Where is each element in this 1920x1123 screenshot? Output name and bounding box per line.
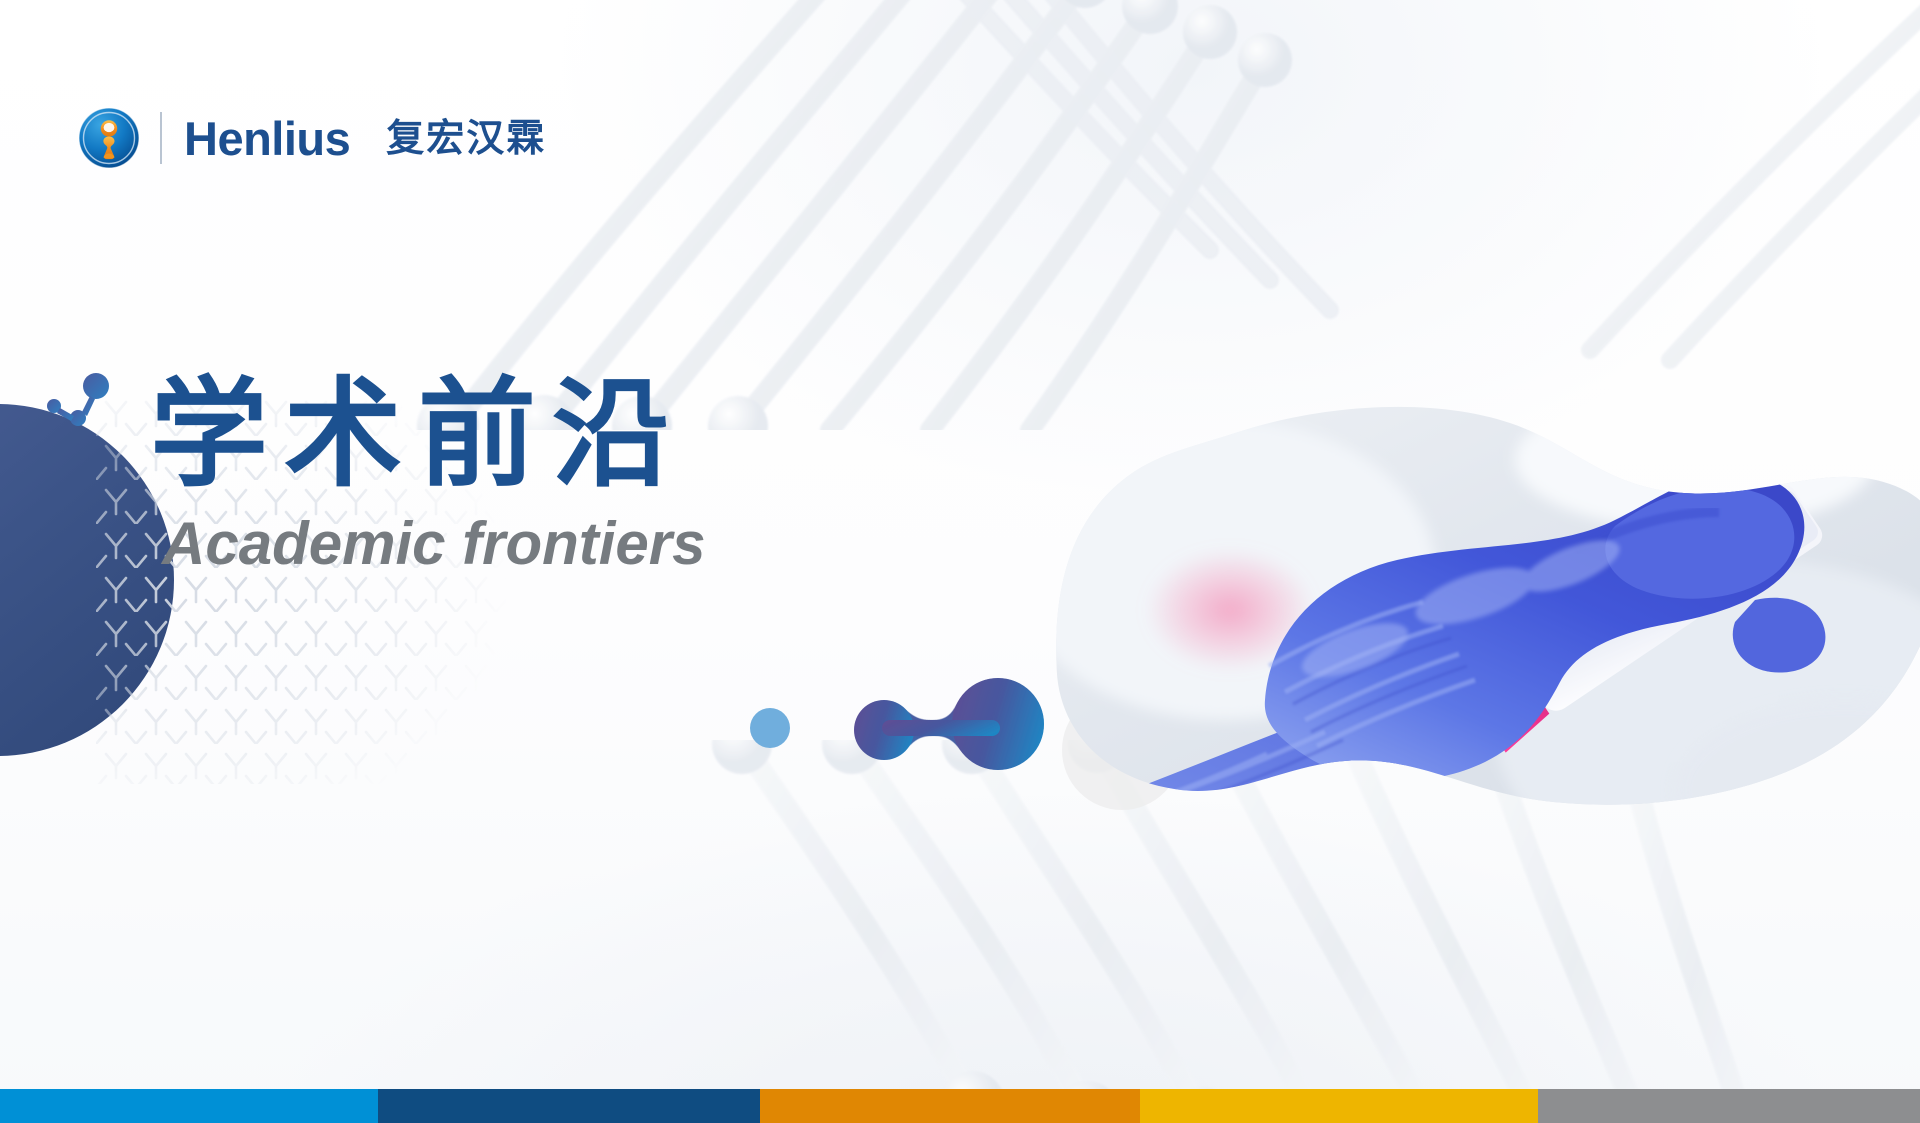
- molecule-icon-small: [38, 372, 118, 442]
- bar-orange: [760, 1089, 1140, 1123]
- bottom-color-bars: [0, 1089, 1920, 1123]
- lab-photo-container: [1055, 400, 1920, 830]
- photo-artwork: [1055, 400, 1920, 830]
- molecule-icon-large: [838, 672, 1058, 782]
- dna-helix-right: [1560, 0, 1920, 370]
- bar-gray: [1538, 1089, 1920, 1123]
- henlius-logo-mark-icon: [78, 107, 140, 169]
- logo-chinese-name: 复宏汉霖: [386, 119, 546, 157]
- bar-yellow: [1140, 1089, 1538, 1123]
- logo-divider: [160, 112, 162, 164]
- logo-wordmark: Henlius: [184, 115, 350, 162]
- page-title-chinese: 学术前沿: [150, 371, 910, 498]
- decor-light-blue-dot: [750, 708, 790, 748]
- title-block: 学术前沿 Academic frontiers: [150, 371, 910, 574]
- decor-left-circle: [0, 404, 174, 756]
- bar-dark-blue: [378, 1089, 760, 1123]
- lab-gloved-hand-pipette-photo: [1055, 400, 1920, 830]
- henlius-logo[interactable]: Henlius 复宏汉霖: [78, 101, 546, 175]
- page-subtitle-english: Academic frontiers: [162, 514, 910, 574]
- slide-canvas: Henlius 复宏汉霖 学术前沿 Academic frontiers: [0, 0, 1920, 1123]
- bar-light-blue: [0, 1089, 378, 1123]
